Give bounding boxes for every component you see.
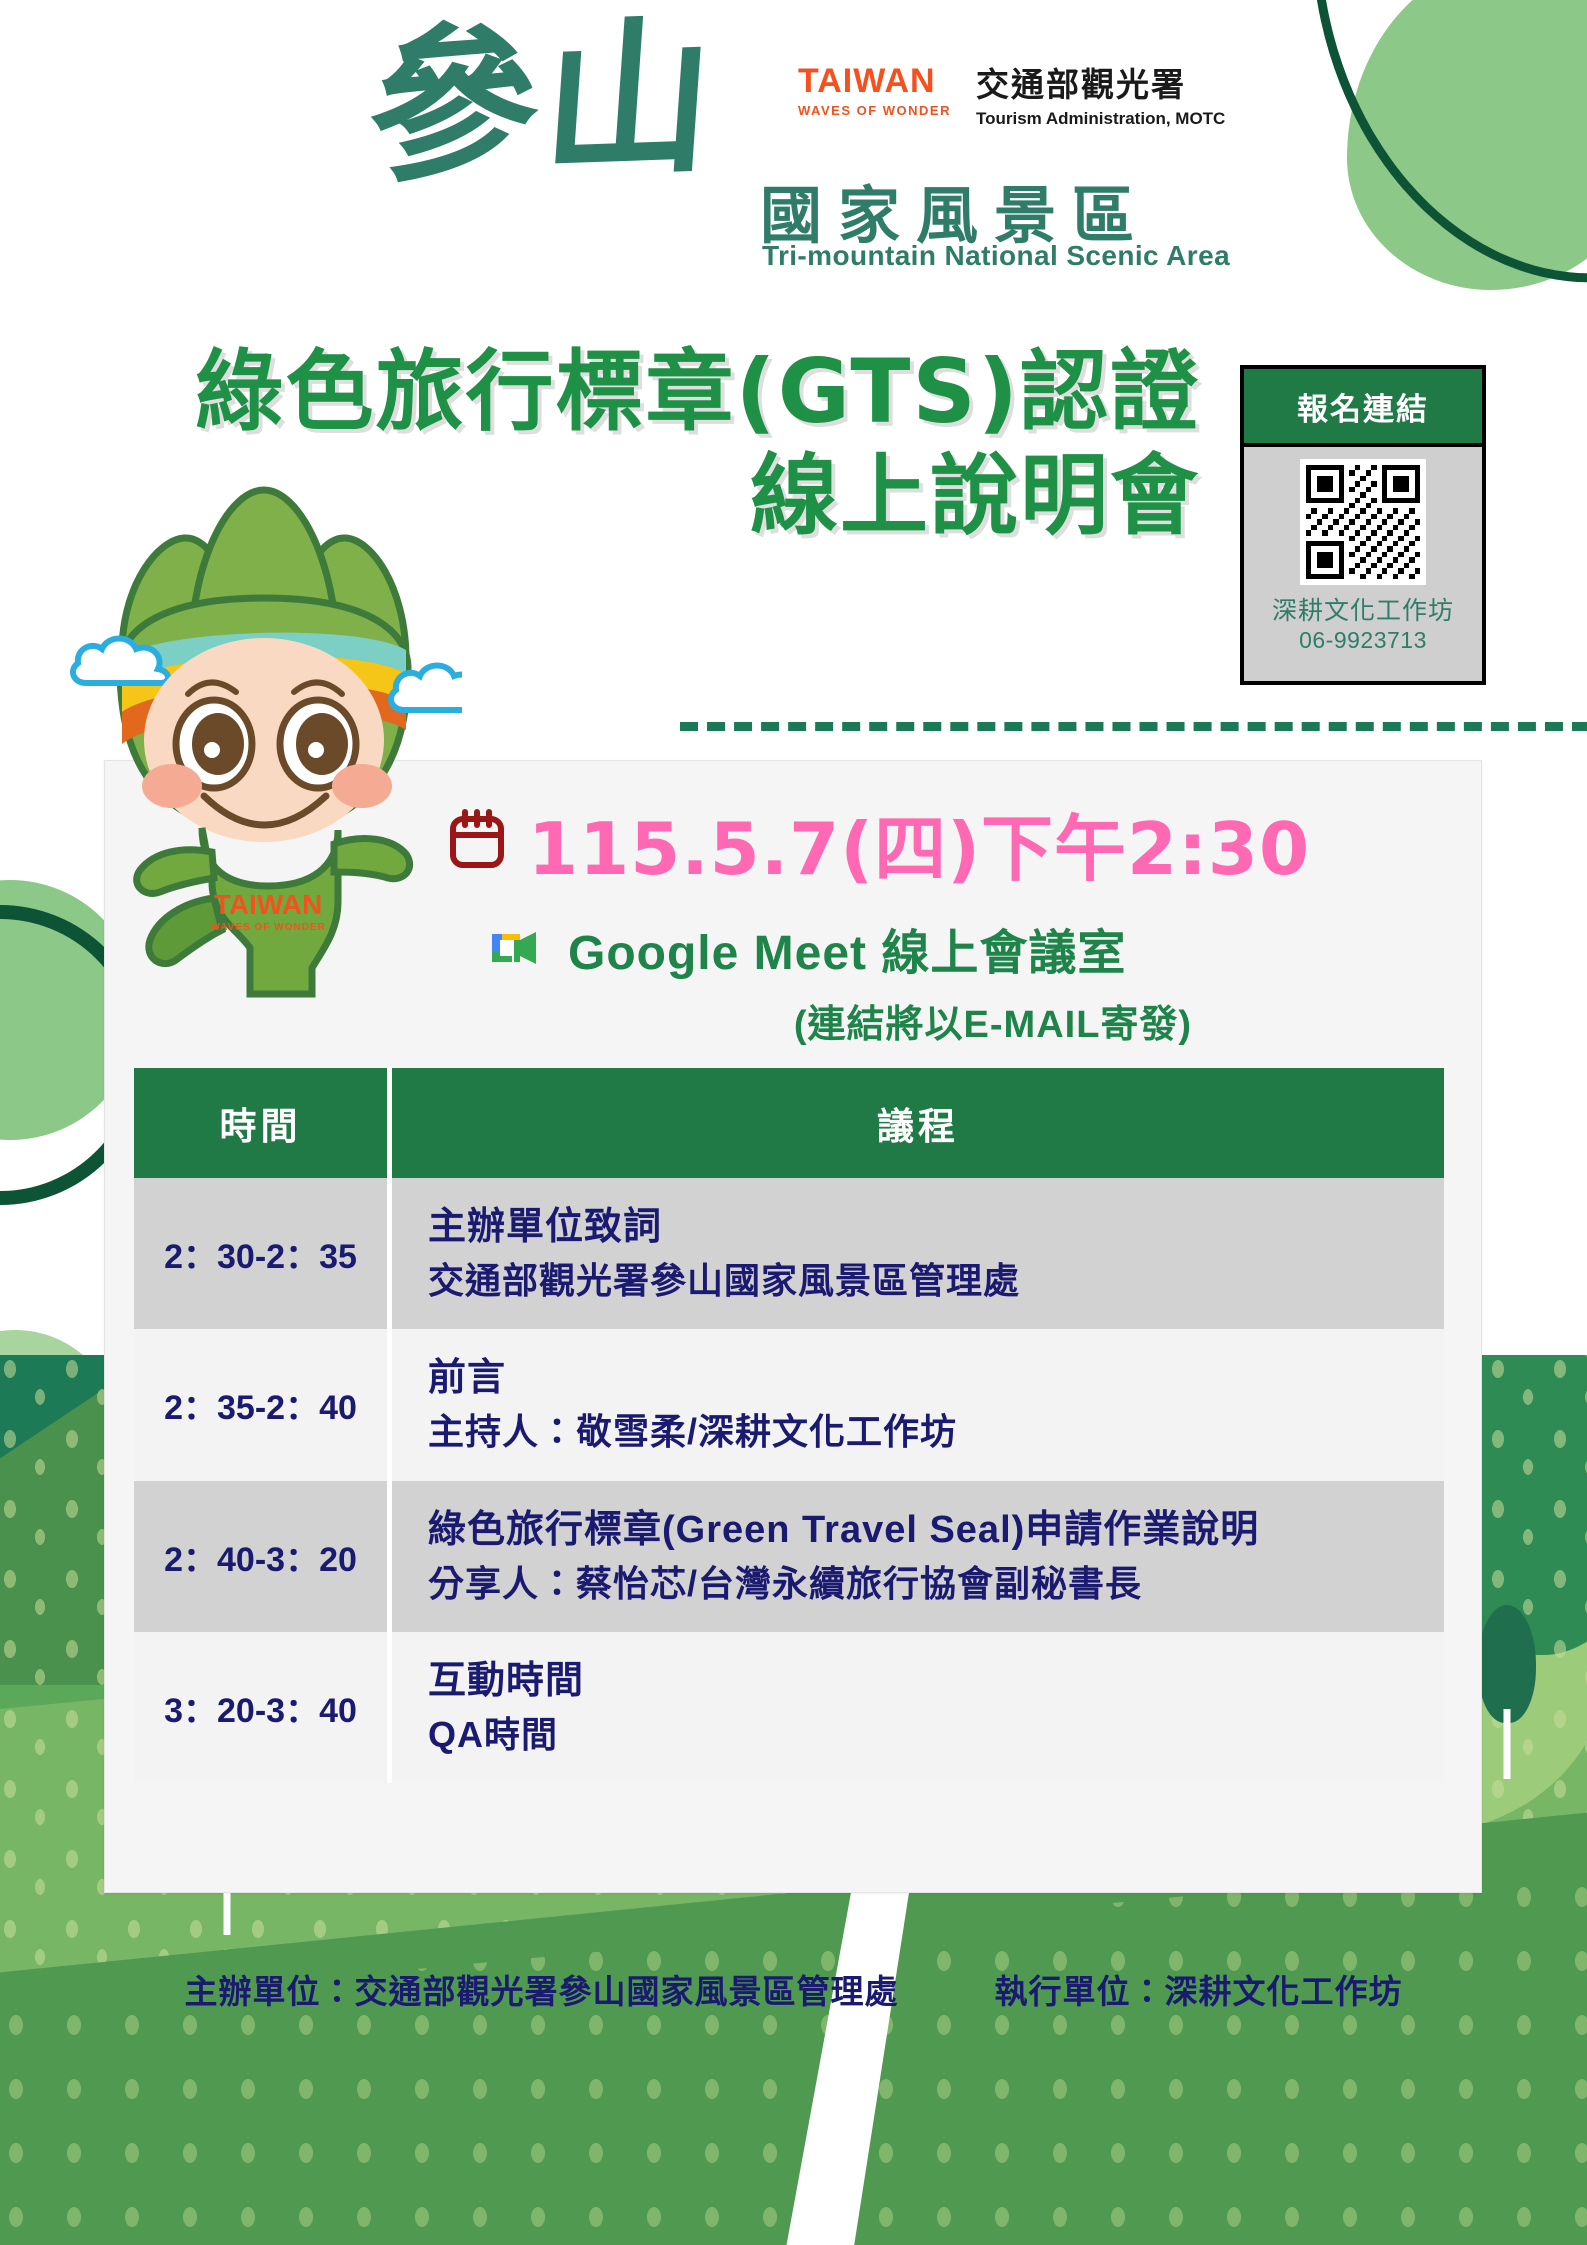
mascot-cheek	[142, 764, 202, 808]
agenda-column-header-topic: 議程	[392, 1068, 1444, 1178]
agenda-topic-cell: 前言 主持人：敬雪柔/深耕文化工作坊	[392, 1329, 1444, 1480]
table-row: 3：20-3：40 互動時間 QA時間	[134, 1632, 1444, 1783]
header-logo-zone: 參山 TAIWAN WAVES OF WONDER 交通部觀光署 Tourism…	[0, 0, 1587, 300]
tree-icon	[1478, 1605, 1536, 1723]
meeting-platform-text: Google Meet 線上會議室	[568, 913, 1126, 983]
meeting-link-note: (連結將以E-MAIL寄發)	[448, 993, 1448, 1048]
registration-phone-number: 06-9923713	[1244, 627, 1482, 654]
scenic-area-english-name: Tri-mountain National Scenic Area	[762, 240, 1230, 272]
mascot-arm-right	[334, 839, 410, 879]
table-row: 2：35-2：40 前言 主持人：敬雪柔/深耕文化工作坊	[134, 1329, 1444, 1480]
agenda-topic-detail: 交通部觀光署參山國家風景區管理處	[428, 1255, 1444, 1307]
mascot-body-taiwan-text: TAIWAN	[214, 889, 322, 920]
agenda-topic-title: 綠色旅行標章(Green Travel Seal)申請作業說明	[428, 1503, 1444, 1558]
poster-root: 參山 TAIWAN WAVES OF WONDER 交通部觀光署 Tourism…	[0, 0, 1587, 2245]
motc-english-name: Tourism Administration, MOTC	[976, 109, 1225, 129]
agenda-table: 時間 議程 2：30-2：35 主辦單位致詞 交通部觀光署參山國家風景區管理處 …	[134, 1068, 1444, 1783]
agenda-time-cell: 3：20-3：40	[134, 1632, 392, 1783]
motc-chinese-name: 交通部觀光署	[976, 58, 1225, 106]
footer-organizer: 主辦單位：交通部觀光署參山國家風景區管理處	[185, 1965, 899, 2013]
agenda-column-header-time: 時間	[134, 1068, 392, 1178]
agenda-topic-title: 互動時間	[428, 1654, 1444, 1709]
registration-qr-box[interactable]: 報名連結 深耕文化工作坊 06-9923713	[1240, 365, 1486, 685]
agenda-topic-cell: 綠色旅行標章(Green Travel Seal)申請作業說明 分享人：蔡怡芯/…	[392, 1481, 1444, 1632]
taiwan-tagline: WAVES OF WONDER	[798, 103, 951, 118]
agenda-table-body: 2：30-2：35 主辦單位致詞 交通部觀光署參山國家風景區管理處 2：35-2…	[134, 1178, 1444, 1783]
agenda-topic-detail: 分享人：蔡怡芯/台灣永續旅行協會副秘書長	[428, 1558, 1444, 1610]
agenda-topic-title: 前言	[428, 1351, 1444, 1406]
footer-executor: 執行單位：深耕文化工作坊	[995, 1965, 1403, 2013]
registration-qr-body: 深耕文化工作坊 06-9923713	[1244, 447, 1482, 654]
dashed-divider	[680, 722, 1587, 731]
mascot-cheek	[332, 764, 392, 808]
taiwan-wordmark: TAIWAN	[798, 62, 951, 101]
agenda-topic-detail: QA時間	[428, 1709, 1444, 1761]
registration-org-name: 深耕文化工作坊	[1244, 591, 1482, 627]
agenda-topic-title: 主辦單位致詞	[428, 1200, 1444, 1255]
mascot-body-tagline-text: WAVES OF WONDER	[210, 922, 325, 933]
agenda-topic-detail: 主持人：敬雪柔/深耕文化工作坊	[428, 1406, 1444, 1458]
mascot-arm-left	[137, 850, 214, 894]
calendar-icon	[448, 809, 506, 876]
meeting-platform-row: Google Meet 線上會議室	[448, 913, 1448, 983]
agenda-header-row: 時間 議程	[134, 1068, 1444, 1178]
agenda-table-head: 時間 議程	[134, 1068, 1444, 1178]
qr-code-icon[interactable]	[1300, 459, 1426, 585]
agenda-time-cell: 2：30-2：35	[134, 1178, 392, 1329]
page-title-line-1: 綠色旅行標章(GTS)認證	[60, 340, 1200, 444]
tri-mountain-calligraphy-logo: 參山	[364, 12, 725, 192]
agenda-time-cell: 2：35-2：40	[134, 1329, 392, 1480]
registration-qr-heading: 報名連結	[1244, 369, 1482, 447]
meeting-info: 115.5.7(四)下午2:30 Google Meet 線上會議室 (連結將以…	[448, 790, 1448, 1048]
meeting-date-row: 115.5.7(四)下午2:30	[448, 790, 1448, 895]
motc-logo: 交通部觀光署 Tourism Administration, MOTC	[976, 58, 1225, 129]
mascot-illustration: TAIWAN WAVES OF WONDER	[62, 478, 462, 998]
agenda-topic-cell: 互動時間 QA時間	[392, 1632, 1444, 1783]
taiwan-waves-of-wonder-logo: TAIWAN WAVES OF WONDER	[798, 62, 951, 118]
table-row: 2：30-2：35 主辦單位致詞 交通部觀光署參山國家風景區管理處	[134, 1178, 1444, 1329]
agenda-time-cell: 2：40-3：20	[134, 1481, 392, 1632]
agenda-topic-cell: 主辦單位致詞 交通部觀光署參山國家風景區管理處	[392, 1178, 1444, 1329]
table-row: 2：40-3：20 綠色旅行標章(Green Travel Seal)申請作業說…	[134, 1481, 1444, 1632]
meeting-date-text: 115.5.7(四)下午2:30	[528, 790, 1310, 895]
google-meet-icon	[486, 922, 542, 975]
footer: 主辦單位：交通部觀光署參山國家風景區管理處 執行單位：深耕文化工作坊	[0, 1965, 1587, 2013]
mascot-svg: TAIWAN WAVES OF WONDER	[62, 478, 462, 998]
